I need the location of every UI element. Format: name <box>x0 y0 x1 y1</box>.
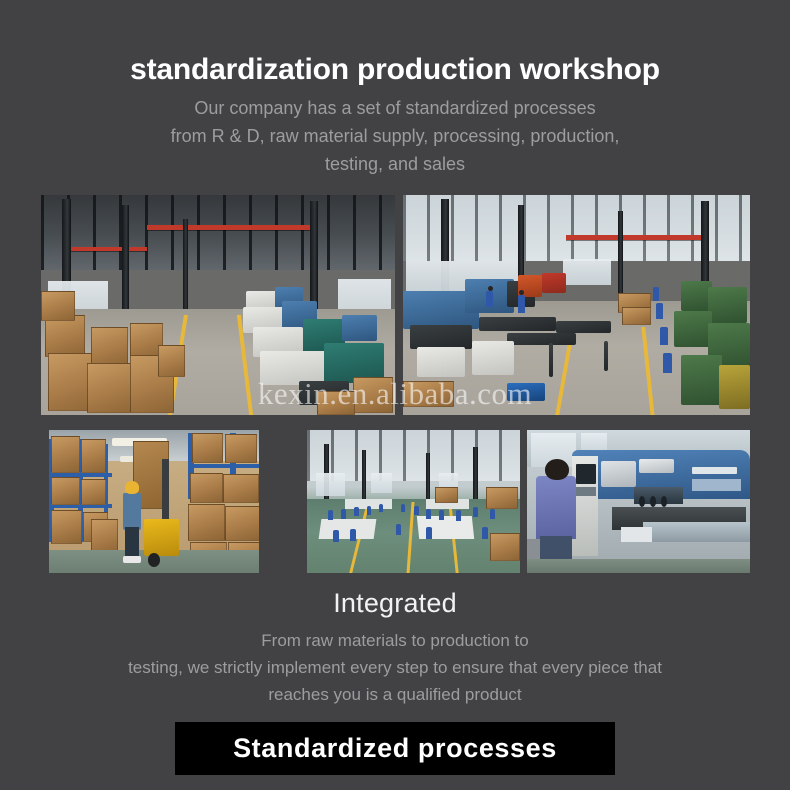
lower-title: Integrated <box>0 586 790 620</box>
lower-subtitle: From raw materials to production to test… <box>0 627 790 708</box>
header-subtitle-line-1: Our company has a set of standardized pr… <box>0 94 790 122</box>
page-title: standardization production workshop <box>0 52 790 88</box>
watermark-text: kexin.en.alibaba.com <box>0 376 790 412</box>
photo-cnc-punching-machine <box>527 430 750 573</box>
lower-subtitle-line-2: testing, we strictly implement every ste… <box>0 654 790 681</box>
photo-warehouse-forklift <box>49 430 259 573</box>
promo-banner-page: standardization production workshop Our … <box>0 0 790 790</box>
header-block: standardization production workshop Our … <box>0 52 790 178</box>
header-subtitle: Our company has a set of standardized pr… <box>0 94 790 178</box>
standardized-processes-banner: Standardized processes <box>175 722 615 775</box>
banner-label: Standardized processes <box>233 733 557 764</box>
photo-machining-hall <box>403 195 750 415</box>
photo-warehouse-aisle-boxes <box>41 195 395 415</box>
header-subtitle-line-3: testing, and sales <box>0 150 790 178</box>
lower-subtitle-line-3: reaches you is a qualified product <box>0 681 790 708</box>
photo-assembly-line <box>307 430 520 573</box>
lower-text-block: Integrated From raw materials to product… <box>0 586 790 708</box>
lower-subtitle-line-1: From raw materials to production to <box>0 627 790 654</box>
header-subtitle-line-2: from R & D, raw material supply, process… <box>0 122 790 150</box>
